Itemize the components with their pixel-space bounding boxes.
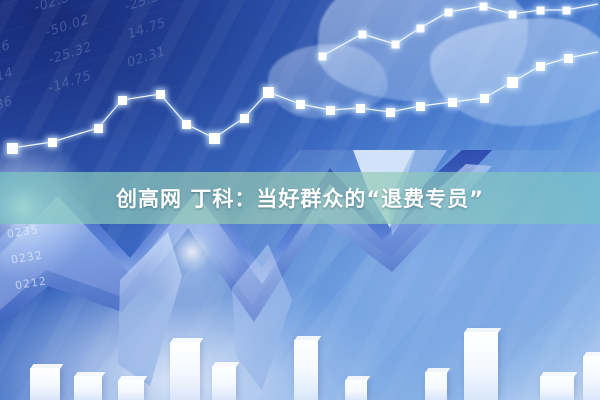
bar-column (118, 380, 144, 400)
bar-column (30, 368, 60, 400)
headline-band: 创高网 丁科：当好群众的“退费专员” (0, 172, 600, 224)
financial-banner-image: -09.02 -02.35 21.6 -09.38 -11.25 45.02 -… (0, 0, 600, 400)
bar-top-face (118, 376, 147, 381)
headline-text: 创高网 丁科：当好群众的“退费专员” (116, 183, 484, 213)
line-chart-nodes (5, 1, 575, 156)
bar-column (583, 356, 600, 400)
bar-top-face (540, 372, 577, 377)
bar-column (212, 366, 236, 400)
bar-column (425, 372, 447, 400)
bar-top-face (583, 352, 600, 357)
bar-column (464, 332, 498, 400)
bar-top-face (170, 338, 203, 343)
bar-column (294, 340, 318, 400)
bar-top-face (212, 362, 239, 367)
bar-top-face (74, 372, 105, 377)
bar-column (540, 376, 574, 400)
bar-top-face (294, 336, 321, 341)
bar-top-face (30, 364, 63, 369)
bar-column (170, 342, 200, 400)
bar-top-face (464, 328, 501, 333)
bar-top-face (345, 376, 370, 381)
bar-column (345, 380, 367, 400)
bar-column (74, 376, 102, 400)
bar-top-face (425, 368, 450, 373)
